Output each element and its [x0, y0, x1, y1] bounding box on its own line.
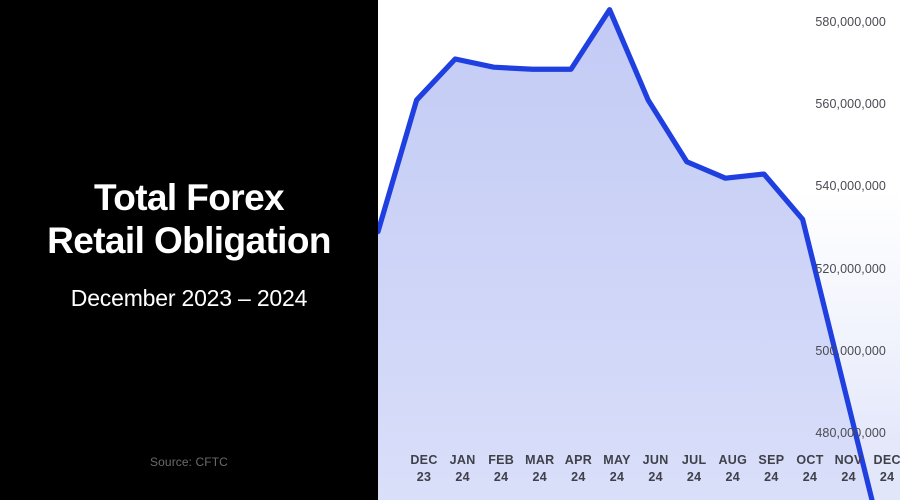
y-axis-tick: 520,000,000 — [815, 262, 886, 276]
title-panel: Total Forex Retail Obligation December 2… — [0, 0, 378, 500]
x-axis-tick: SEP 24 — [758, 452, 784, 486]
title-block: Total Forex Retail Obligation December 2… — [0, 176, 378, 312]
y-axis-tick: 560,000,000 — [815, 97, 886, 111]
x-axis-tick: APR 24 — [565, 452, 592, 486]
y-axis-tick: 480,000,000 — [815, 426, 886, 440]
x-axis-tick: NOV 24 — [835, 452, 863, 486]
infographic-chart-card: 480,000,000500,000,000520,000,000540,000… — [0, 0, 900, 500]
y-axis-tick: 500,000,000 — [815, 344, 886, 358]
x-axis-tick: DEC 24 — [874, 452, 900, 486]
x-axis-tick: JAN 24 — [450, 452, 476, 486]
y-axis-tick: 540,000,000 — [815, 179, 886, 193]
x-axis-tick: FEB 24 — [488, 452, 514, 486]
page-title: Total Forex Retail Obligation — [0, 176, 378, 263]
source-attribution: Source: CFTC — [0, 455, 378, 469]
x-axis-tick: AUG 24 — [718, 452, 747, 486]
x-axis-tick: MAY 24 — [603, 452, 631, 486]
y-axis-tick: 580,000,000 — [815, 15, 886, 29]
x-axis-tick: JUN 24 — [643, 452, 669, 486]
x-axis-tick: DEC 23 — [410, 452, 437, 486]
x-axis-tick: OCT 24 — [796, 452, 823, 486]
page-subtitle: December 2023 – 2024 — [0, 285, 378, 312]
chart-panel — [378, 0, 900, 500]
x-axis-tick: JUL 24 — [682, 452, 707, 486]
x-axis-tick: MAR 24 — [525, 452, 554, 486]
